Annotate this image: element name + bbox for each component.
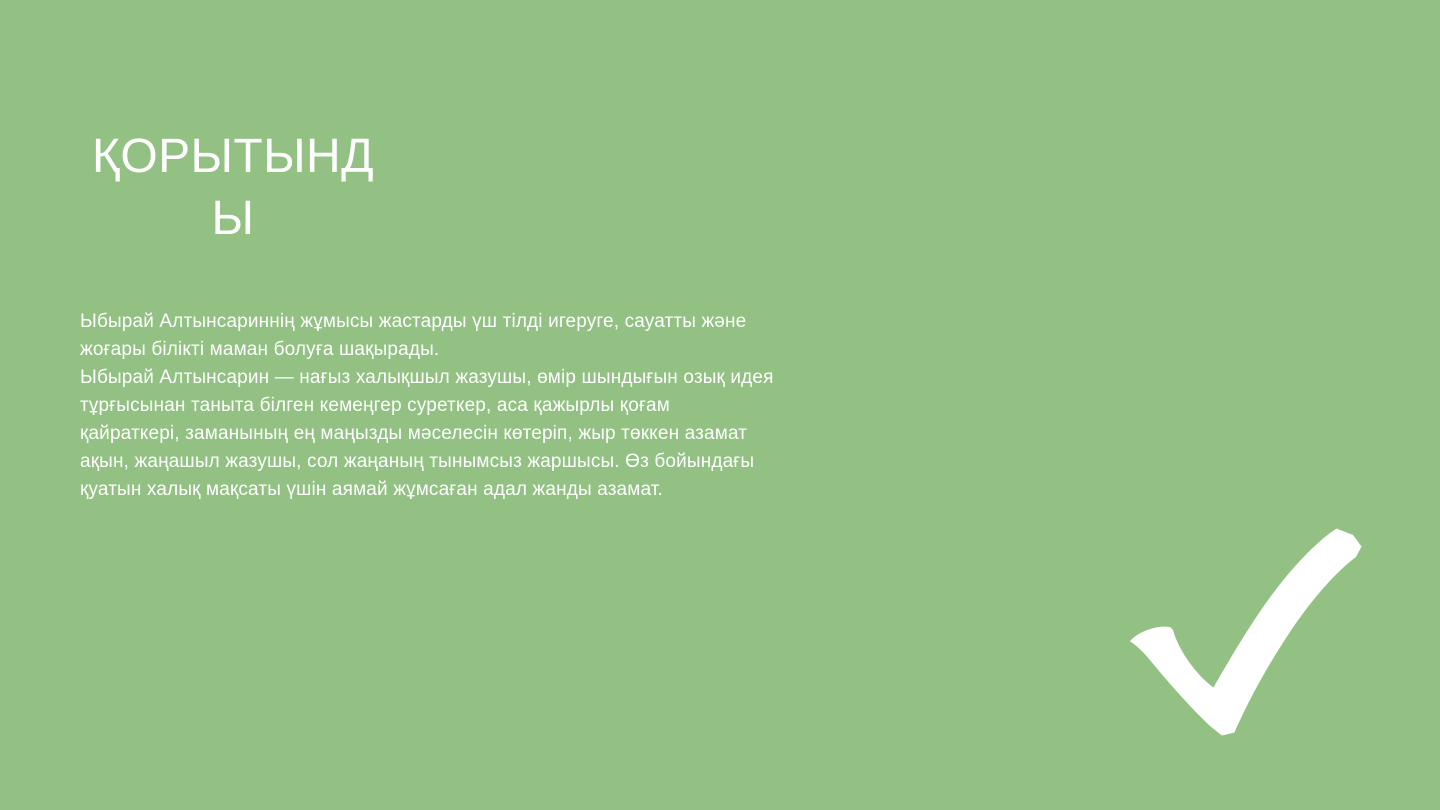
title-block: ҚОРЫТЫНДЫ	[88, 126, 378, 250]
body-line: Ыбырай Алтынсариннің жұмысы жастарды үш …	[80, 308, 970, 336]
slide-canvas: ҚОРЫТЫНДЫ Ыбырай Алтынсариннің жұмысы жа…	[0, 0, 1440, 810]
body-line: Ыбырай Алтынсарин — нағыз халықшыл жазуш…	[80, 364, 970, 392]
body-text-block: Ыбырай Алтынсариннің жұмысы жастарды үш …	[80, 308, 970, 504]
body-line: тұрғысынан таныта білген кемеңгер суретк…	[80, 392, 970, 420]
body-line: жоғары білікті маман болуға шақырады.	[80, 336, 970, 364]
body-line: қайраткері, заманының ең маңызды мәселес…	[80, 420, 970, 448]
checkmark-icon	[1112, 512, 1380, 748]
page-title: ҚОРЫТЫНДЫ	[88, 126, 378, 250]
body-line: қуатын халық мақсаты үшін аямай жұмсаған…	[80, 476, 970, 504]
body-line: ақын, жаңашыл жазушы, сол жаңаның тынымс…	[80, 448, 970, 476]
